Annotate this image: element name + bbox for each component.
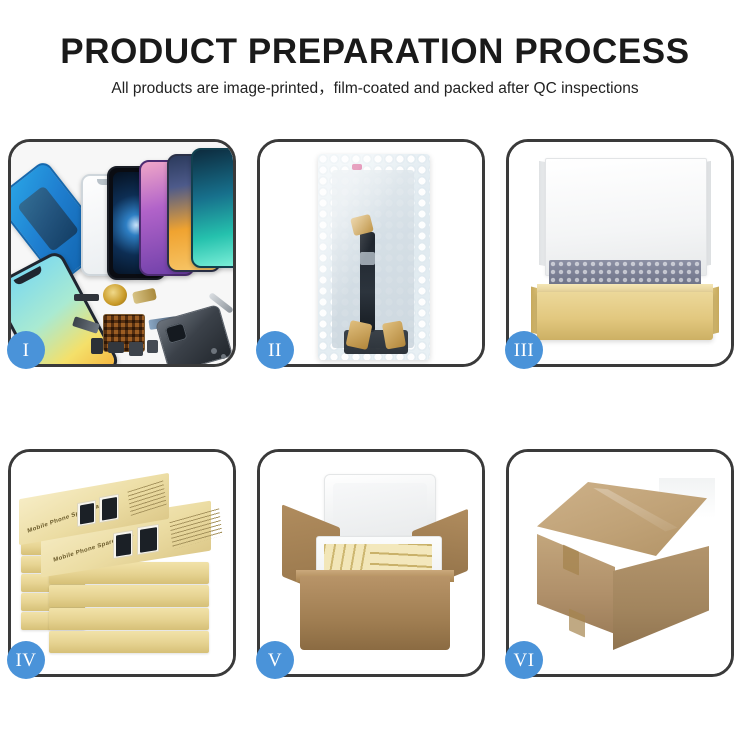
step-badge-4: IV bbox=[7, 641, 45, 679]
box-front-panel bbox=[537, 292, 713, 340]
process-step-panel-1: I bbox=[8, 139, 236, 367]
panel-6-image bbox=[509, 452, 731, 674]
carton-body bbox=[300, 576, 450, 650]
stack-box-front-4 bbox=[49, 631, 209, 653]
part-sim-tray bbox=[129, 342, 143, 356]
panel-2-image bbox=[260, 142, 482, 364]
part-screw-2 bbox=[221, 354, 226, 359]
part-camera-module bbox=[91, 338, 103, 354]
panel-4-image: Mobile Phone Spare Parts Mobile Phone Sp… bbox=[11, 452, 233, 674]
open-kraft-box-photo bbox=[509, 142, 731, 364]
part-connector bbox=[147, 340, 158, 353]
page-subtitle: All products are image-printed，film-coat… bbox=[0, 81, 750, 97]
process-step-panel-4: Mobile Phone Spare Parts Mobile Phone Sp… bbox=[8, 449, 236, 677]
carton-right-face bbox=[613, 546, 709, 650]
box-spec-lines-middle bbox=[169, 508, 222, 549]
step-badge-2: II bbox=[256, 331, 294, 369]
product-preparation-process-page: PRODUCT PREPARATION PROCESS All products… bbox=[0, 0, 750, 750]
panel-1-image bbox=[11, 142, 233, 364]
panel-3-image bbox=[509, 142, 731, 364]
part-flex-cable-a bbox=[132, 288, 157, 305]
stack-box-front-3 bbox=[49, 608, 209, 630]
step-badge-6: VI bbox=[505, 641, 543, 679]
process-step-panel-3: III bbox=[506, 139, 734, 367]
page-title: PRODUCT PREPARATION PROCESS bbox=[0, 34, 750, 69]
step-badge-3: III bbox=[505, 331, 543, 369]
sealed-shipping-carton-photo bbox=[509, 452, 731, 674]
part-screw-1 bbox=[211, 348, 217, 354]
panel-5-image bbox=[260, 452, 482, 674]
step-badge-5: V bbox=[256, 641, 294, 679]
bubble-wrapped-screen-photo bbox=[260, 142, 482, 364]
box-white-lid bbox=[545, 158, 707, 276]
page-header: PRODUCT PREPARATION PROCESS All products… bbox=[0, 0, 750, 97]
part-button-bracket bbox=[108, 342, 124, 353]
process-step-panel-5: V bbox=[257, 449, 485, 677]
part-earpiece-mesh bbox=[74, 294, 99, 301]
bag-gloss-highlight bbox=[318, 154, 430, 360]
process-step-panel-6: VI bbox=[506, 449, 734, 677]
bubble-wrap-bag bbox=[318, 154, 430, 360]
teal-wallpaper-phone bbox=[191, 148, 233, 268]
step-badge-1: I bbox=[7, 331, 45, 369]
carton-with-foam-insert-photo bbox=[260, 452, 482, 674]
box-spec-lines-top bbox=[127, 480, 166, 515]
part-speaker-module bbox=[103, 284, 127, 306]
phone-screens-and-parts-photo bbox=[11, 142, 233, 364]
stack-box-front-2 bbox=[49, 585, 209, 607]
stacked-printed-boxes-photo: Mobile Phone Spare Parts Mobile Phone Sp… bbox=[11, 452, 233, 674]
process-step-grid: I II bbox=[8, 139, 742, 677]
process-step-panel-2: II bbox=[257, 139, 485, 367]
